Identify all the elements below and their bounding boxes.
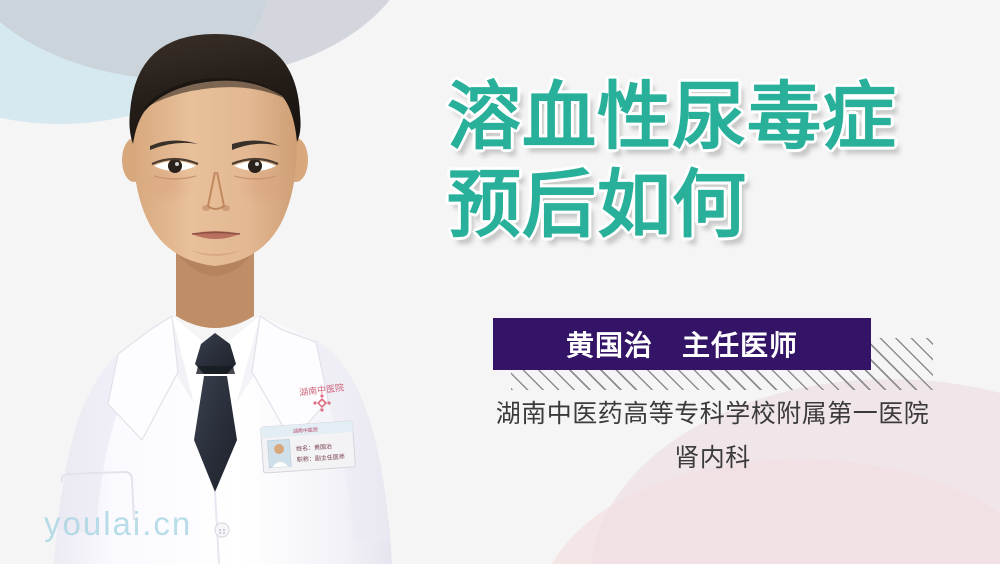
thumbnail-canvas: 湖南中医院 湖南中医院 姓名：黄国治 职称：副主任医师 (0, 0, 1000, 564)
doctor-name-label: 黄国治 主任医师 (566, 324, 798, 364)
affiliation-block: 湖南中医药高等专科学校附属第一医院 肾内科 (440, 392, 985, 480)
site-watermark: youlai.cn (44, 505, 192, 543)
name-badge-bar: 黄国治 主任医师 (493, 318, 871, 370)
hospital-name: 湖南中医药高等专科学校附属第一医院 (440, 392, 985, 436)
title-line-2: 预后如何 (447, 161, 987, 249)
doctor-name-badge: 黄国治 主任医师 (493, 318, 933, 390)
department-name: 肾内科 (440, 436, 985, 480)
title-line-1: 溶血性尿毒症 (447, 73, 987, 161)
page-title: 溶血性尿毒症 预后如何 (447, 73, 987, 249)
doctor-portrait-image: 湖南中医院 湖南中医院 姓名：黄国治 职称：副主任医师 (0, 0, 430, 564)
id-card-badge: 湖南中医院 姓名：黄国治 职称：副主任医师 (261, 421, 356, 473)
